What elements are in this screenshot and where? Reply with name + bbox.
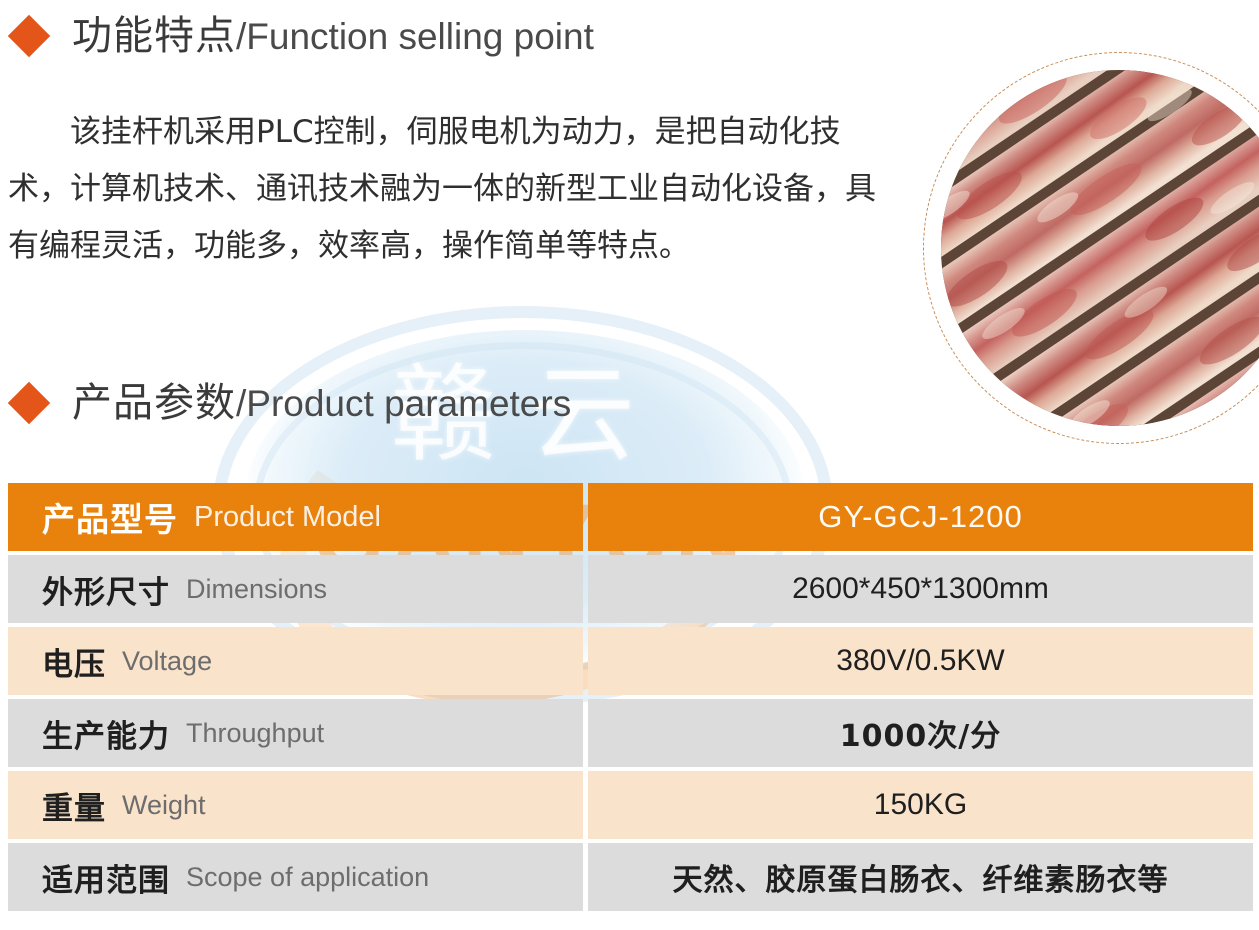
label-en: Scope of application	[186, 862, 429, 893]
table-cell-value: 380V/0.5KW	[588, 627, 1253, 695]
table-cell-value: GY-GCJ-1200	[588, 483, 1253, 551]
label-cn: 外形尺寸	[42, 567, 170, 612]
section-heading-parameters: 产品参数/Product parameters	[14, 383, 571, 423]
heading-parameters-cn: 产品参数	[72, 380, 236, 426]
label-en: Product Model	[194, 501, 381, 534]
heading-function-sep: /	[236, 16, 246, 57]
label-cn: 适用范围	[42, 855, 170, 900]
value-text: 1000次/分	[840, 711, 1001, 755]
heading-function-text: 功能特点/Function selling point	[72, 16, 594, 56]
label-en: Dimensions	[186, 574, 327, 605]
heading-function-cn: 功能特点	[72, 13, 236, 59]
value-text: 天然、胶原蛋白肠衣、纤维素肠衣等	[673, 855, 1169, 899]
table-row: 适用范围Scope of application天然、胶原蛋白肠衣、纤维素肠衣等	[8, 843, 1253, 911]
section-heading-function: 功能特点/Function selling point	[14, 16, 594, 56]
table-cell-value: 天然、胶原蛋白肠衣、纤维素肠衣等	[588, 843, 1253, 911]
table-row: 电压Voltage380V/0.5KW	[8, 627, 1253, 695]
label-en: Voltage	[122, 646, 212, 677]
table-cell-value: 2600*450*1300mm	[588, 555, 1253, 623]
table-row: 生产能力Throughput1000次/分	[8, 699, 1253, 767]
value-text: 2600*450*1300mm	[792, 572, 1049, 606]
table-row: 外形尺寸Dimensions2600*450*1300mm	[8, 555, 1253, 623]
product-photo	[923, 52, 1259, 444]
table-row: 重量Weight150KG	[8, 771, 1253, 839]
function-description-paragraph: 该挂杆机采用PLC控制，伺服电机为动力，是把自动化技术，计算机技术、通讯技术融为…	[8, 104, 888, 275]
value-text: 150KG	[874, 788, 967, 822]
value-text: GY-GCJ-1200	[818, 499, 1023, 535]
diamond-bullet-icon	[8, 15, 50, 57]
heading-parameters-text: 产品参数/Product parameters	[72, 383, 571, 423]
table-cell-label: 适用范围Scope of application	[8, 843, 583, 911]
table-cell-label: 重量Weight	[8, 771, 583, 839]
table-cell-label: 电压Voltage	[8, 627, 583, 695]
table-cell-label: 产品型号Product Model	[8, 483, 583, 551]
label-en: Weight	[122, 790, 206, 821]
table-row: 产品型号Product ModelGY-GCJ-1200	[8, 483, 1253, 551]
table-cell-label: 生产能力Throughput	[8, 699, 583, 767]
value-text: 380V/0.5KW	[836, 644, 1004, 678]
label-en: Throughput	[186, 718, 324, 749]
label-cn: 电压	[42, 639, 106, 684]
table-cell-value: 150KG	[588, 771, 1253, 839]
heading-parameters-en: Product parameters	[246, 383, 571, 424]
label-cn: 重量	[42, 783, 106, 828]
label-cn: 产品型号	[42, 493, 178, 541]
heading-parameters-sep: /	[236, 383, 246, 424]
table-cell-label: 外形尺寸Dimensions	[8, 555, 583, 623]
heading-function-en: Function selling point	[246, 16, 594, 57]
diamond-bullet-icon	[8, 382, 50, 424]
table-cell-value: 1000次/分	[588, 699, 1253, 767]
label-cn: 生产能力	[42, 711, 170, 756]
product-parameters-table: 产品型号Product ModelGY-GCJ-1200外形尺寸Dimensio…	[8, 483, 1253, 911]
